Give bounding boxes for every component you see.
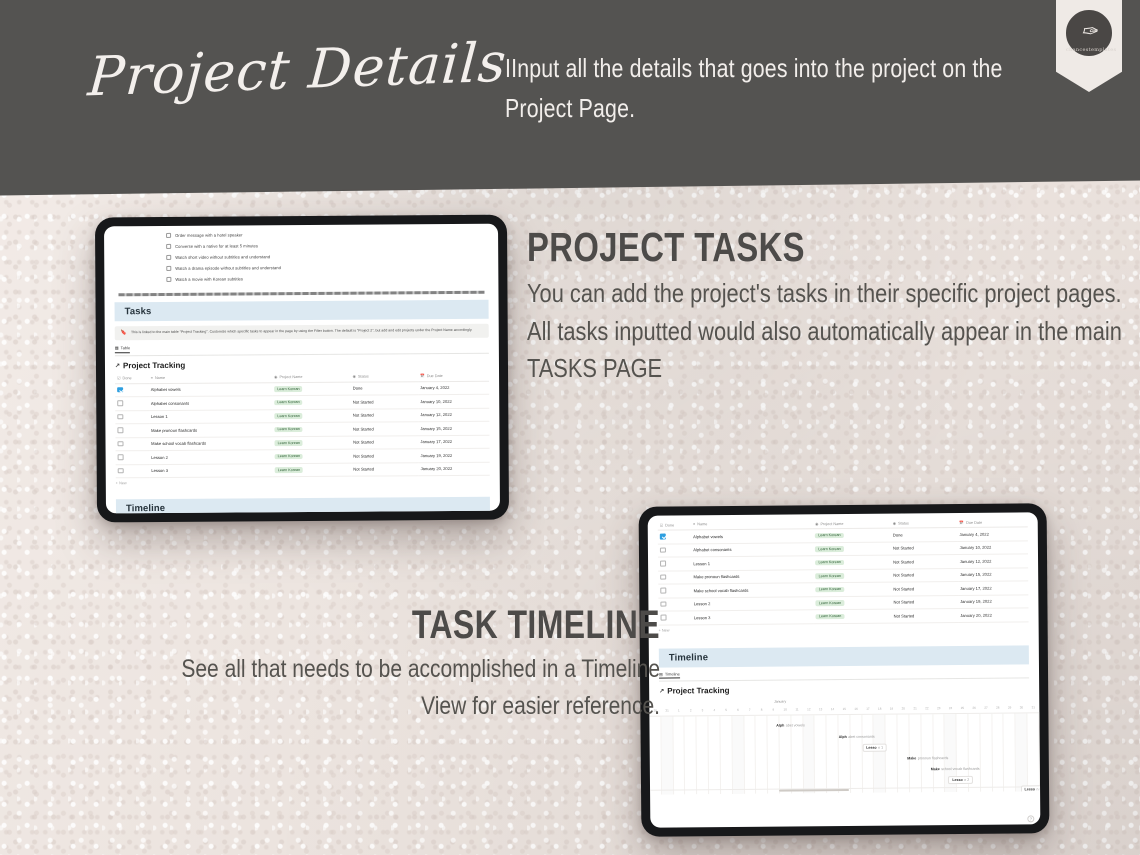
column-header-done[interactable]: ☑Done [658,519,691,530]
row-checkbox[interactable] [660,547,666,553]
cell-project: Learn Korean [813,528,891,542]
text-column-icon: ≡ [151,376,153,380]
copy-block-project-tasks: PROJECT TASKS You can add the project's … [527,226,1140,388]
timeline-task-bar-prefix: Make [931,767,940,771]
timeline-database-title: Project Tracking [667,686,729,696]
bookmark-icon: 🔖 [121,330,127,337]
timeline-column-band [1004,714,1016,792]
cell-project: Learn Korean [814,609,892,623]
column-header-status[interactable]: ◉Status [891,517,958,528]
table-row[interactable]: Lesson 3 Learn Korean Not Started Januar… [116,462,490,478]
timeline-day-tick: 4 [708,708,720,712]
project-pill[interactable]: Learn Korean [815,560,843,566]
tablet-device-left: Order message with a hotel speaker Conve… [95,215,509,523]
cell-status[interactable]: Not Started [351,462,418,476]
timeline-day-tick: 28 [992,706,1004,710]
row-checkbox[interactable] [660,601,666,607]
timeline-column-band [827,715,839,793]
cell-status[interactable]: Not Started [891,582,958,596]
cell-done[interactable] [658,597,691,611]
timeline-day-tick: 30 [1016,705,1028,709]
timeline-task-bar-label: abet consonants [848,735,874,739]
row-checkbox[interactable] [660,588,666,594]
row-checkbox[interactable] [661,615,667,621]
page-title: Project Details [86,31,509,109]
feather-icon: ✑ [1081,21,1098,41]
section-divider [118,291,484,296]
timeline-day-tick: 15 [838,707,850,711]
cell-status[interactable]: Not Started [351,422,418,436]
project-pill[interactable]: Learn Korean [274,400,302,406]
timeline-day-tick: 5 [720,708,732,712]
column-header-status[interactable]: ◉Status [351,371,418,382]
timeline-column-band [992,714,1004,792]
calendar-icon: 📅 [420,374,425,378]
row-checkbox[interactable] [118,441,124,447]
notion-timeline-page: ☑Done ≡Name ◉Project Name ◉Status 📅Due D… [648,516,1041,827]
column-header-project-name[interactable]: ◉Project Name [272,371,351,382]
tablet-screen-left: Order message with a hotel speaker Conve… [104,224,500,514]
timeline-day-tick: 23 [933,706,945,710]
timeline-column-band [673,716,685,794]
cell-done[interactable] [115,424,149,438]
timeline-column-band [815,715,827,793]
tasks-section-header: Tasks [115,299,489,321]
timeline-column-band [980,714,992,792]
timeline-day-ticks: 3031123456789101112131415161718192021222… [649,705,1039,712]
timeline-day-tick: 7 [744,708,756,712]
timeline-day-tick: 8 [756,708,768,712]
relation-column-icon: ◉ [815,522,818,526]
timeline-column-band [886,715,898,793]
checkbox-icon[interactable] [166,244,171,249]
help-icon[interactable]: ? [1027,815,1034,822]
timeline-column-band [874,715,886,793]
cell-due[interactable]: January 17, 2022 [418,435,489,449]
timeline-day-tick: 3 [697,708,709,712]
notion-project-page: Order message with a hotel speaker Conve… [104,224,500,514]
timeline-day-tick: 31 [661,708,673,712]
copy-heading-task-timeline: TASK TIMELINE [180,604,660,646]
cell-name[interactable]: Make school vocab flashcards [692,583,814,598]
cell-status[interactable]: Not Started [892,609,959,623]
cell-name[interactable]: Make school vocab flashcards [149,436,272,450]
cell-due[interactable]: January 15, 2022 [958,567,1028,581]
timeline-task-bar[interactable]: Alphabet consonants [837,733,875,741]
cell-done[interactable] [658,611,691,625]
project-tracking-table-right: ☑Done ≡Name ◉Project Name ◉Status 📅Due D… [658,516,1029,625]
row-checkbox[interactable] [117,387,123,393]
brand-logo-badge: ✑ chancestemplates [1064,8,1114,58]
cell-status[interactable]: Not Started [891,595,958,609]
select-column-icon: ◉ [353,375,356,379]
timeline-column-band [697,716,709,794]
timeline-task-bar[interactable]: Lesson 1 [862,744,887,752]
timeline-day-tick: 17 [862,707,874,711]
project-pill[interactable]: Learn Korean [816,573,844,579]
cell-project: Learn Korean [813,542,891,556]
tasks-callout: 🔖 This is linked to the main table "Proj… [115,323,489,340]
relation-column-icon: ◉ [274,375,277,379]
timeline-column-band [744,716,756,794]
list-item-label: Watch a drama episode without subtitles … [175,265,281,271]
timeline-task-bar-label: n 3 [1036,787,1040,791]
cell-project: Learn Korean [273,463,352,477]
cell-status[interactable]: Not Started [351,408,418,422]
list-item-label: Watch short video without subtitles and … [175,254,270,260]
cell-done[interactable] [115,397,149,411]
timeline-column-band [661,716,673,794]
list-item-label: Converse with a native for at least 5 mi… [175,243,258,249]
copy-body-task-timeline: See all that needs to be accomplished in… [156,651,660,725]
timeline-task-bar[interactable]: Make school vocab flashcards [929,765,980,773]
project-pill[interactable]: Learn Korean [275,454,303,460]
row-checkbox[interactable] [117,400,123,406]
cell-project: Learn Korean [273,436,352,450]
cell-due[interactable]: January 17, 2022 [958,581,1028,595]
column-header-done[interactable]: ☑Done [115,373,149,384]
cell-status[interactable]: Not Started [351,449,418,463]
tablet-device-right: ☑Done ≡Name ◉Project Name ◉Status 📅Due D… [639,503,1050,837]
timeline-task-bar-label: n 1 [878,746,883,750]
tab-table[interactable]: ▦ Table [115,345,130,353]
checkbox-column-icon: ☑ [660,523,663,527]
cell-due[interactable]: January 20, 2022 [419,462,490,476]
timeline-day-tick: 1 [673,708,685,712]
tab-timeline-label: Timeline [665,671,680,676]
timeline-column-band [803,715,815,793]
cell-done[interactable] [658,543,691,557]
timeline-day-tick: 24 [945,706,957,710]
cell-done[interactable] [116,464,150,478]
cell-name[interactable]: Alphabet vowels [149,382,272,396]
cell-due[interactable]: January 15, 2022 [418,421,489,435]
project-tracking-table: ☑Done ≡Name ◉Project Name ◉Status 📅Due D… [115,370,490,478]
timeline-column-band [685,716,697,794]
cell-name[interactable]: Make pronoun flashcards [149,423,272,437]
open-link-icon: ↗ [115,362,120,369]
cell-name[interactable]: Lesson 1 [691,556,813,571]
timeline-month-label: January [774,700,786,704]
project-pill[interactable]: Learn Korean [275,440,303,446]
copy-body-project-tasks: You can add the project's tasks in their… [527,275,1140,388]
copy-block-task-timeline: TASK TIMELINE See all that needs to be a… [60,604,660,725]
select-column-icon: ◉ [893,521,896,525]
cell-project: Learn Korean [273,449,352,463]
checkbox-icon[interactable] [166,277,171,282]
timeline-column-band [720,716,732,794]
cell-name[interactable]: Lesson 3 [149,463,272,477]
cell-done[interactable] [115,410,149,424]
cell-status[interactable]: Not Started [351,435,418,449]
cell-name[interactable]: Make pronoun flashcards [691,569,813,584]
cell-done[interactable] [658,570,691,584]
project-pill[interactable]: Learn Korean [816,614,844,620]
list-item-label: Watch a movie with Korean subtitles [175,276,243,281]
cell-status[interactable]: Not Started [891,541,958,555]
list-item-label: Order message with a hotel speaker [175,232,243,237]
cell-due[interactable]: January 20, 2022 [958,608,1028,622]
project-pill[interactable]: Learn Korean [816,600,844,606]
cell-project: Learn Korean [814,582,892,596]
timeline-day-tick: 21 [909,706,921,710]
database-view-tabs: ▦ Table [115,343,489,356]
timeline-column-band [862,715,874,793]
timeline-column-band [756,716,768,794]
calendar-icon: 📅 [959,520,964,524]
row-checkbox[interactable] [118,454,124,460]
timeline-day-tick: 16 [850,707,862,711]
project-pill[interactable]: Learn Korean [815,533,843,539]
timeline-section-header: Timeline [116,497,490,514]
table-icon: ▦ [115,345,119,350]
row-checkbox[interactable] [660,534,666,540]
timeline-day-tick: 29 [1004,706,1016,710]
timeline-task-bar-prefix: Lesso [952,778,962,782]
cell-due[interactable]: January 4, 2022 [418,381,489,395]
timeline-column-band [838,715,850,793]
row-checkbox[interactable] [117,414,123,420]
timeline-task-bar[interactable]: Lesson 2 [948,776,973,784]
cell-name[interactable]: Alphabet vowels [691,529,813,544]
timeline-task-bar[interactable]: Lesson 3 [1021,785,1041,793]
project-pill[interactable]: Learn Korean [275,467,303,473]
cell-due[interactable]: January 19, 2022 [418,448,489,462]
timeline-task-bar[interactable]: Make pronoun flashcards [905,754,948,762]
database-title: Project Tracking [123,360,185,369]
timeline-column-band [732,716,744,794]
timeline-task-bar[interactable]: Alphabet vowels [774,721,805,729]
timeline-day-tick: 14 [827,707,839,711]
cell-due[interactable]: January 12, 2022 [958,554,1028,568]
cell-done[interactable] [658,557,691,571]
timeline-day-tick: 11 [791,707,803,711]
timeline-day-tick: 12 [803,707,815,711]
timeline-day-tick: 13 [815,707,827,711]
row-checkbox[interactable] [118,468,124,474]
timeline-task-bar-prefix: Lesso [866,746,876,750]
timeline-task-bar-prefix: Lesso [1025,787,1035,791]
checkbox-icon[interactable] [166,233,171,238]
cell-name[interactable]: Lesson 2 [149,450,272,464]
cell-status[interactable]: Done [351,381,418,395]
timeline-column-band [708,716,720,794]
timeline-day-tick: 2 [685,708,697,712]
timeline-task-bar-label: pronoun flashcards [918,756,949,760]
tasks-callout-text: This is linked to the main table "Projec… [131,327,472,335]
column-header-due-date[interactable]: 📅Due Date [418,370,489,381]
column-header-due-date[interactable]: 📅Due Date [957,516,1027,527]
cell-due[interactable]: January 4, 2022 [957,527,1027,541]
timeline-column-band [649,717,661,795]
row-checkbox[interactable] [660,561,666,567]
cell-done[interactable] [116,451,150,465]
cell-project: Learn Korean [272,422,351,436]
timeline-task-bar-prefix: Alph [776,724,784,728]
row-checkbox[interactable] [660,574,666,580]
row-checkbox[interactable] [117,427,123,433]
tab-timeline[interactable]: ▤ Timeline [659,671,680,679]
cell-name[interactable]: Alphabet consonants [691,542,813,557]
timeline-day-tick: 22 [921,706,933,710]
timeline-day-tick: 18 [874,707,886,711]
brand-name: chancestemplates [1066,47,1112,53]
page-subtitle: IInput all the details that goes into th… [505,48,1030,129]
cell-done[interactable] [115,383,149,397]
cell-name[interactable]: Lesson 1 [149,409,272,423]
header-banner: Project Details IInput all the details t… [0,0,1140,196]
timeline-day-tick: 19 [886,707,898,711]
cell-name[interactable]: Lesson 2 [692,596,814,611]
cell-name[interactable]: Alphabet consonants [149,396,272,410]
table-body: Alphabet vowels Learn Korean Done Januar… [658,527,1029,625]
project-pill[interactable]: Learn Korean [274,386,302,392]
table-row[interactable]: Lesson 3 Learn Korean Not Started Januar… [658,608,1028,625]
cell-project: Learn Korean [813,555,891,569]
timeline-task-bar-label: n 2 [964,778,969,782]
timeline-day-tick: 26 [968,706,980,710]
tasks-heading: Tasks [125,303,479,316]
timeline-day-tick: 20 [897,706,909,710]
project-pill[interactable]: Learn Korean [816,587,844,593]
cell-due[interactable]: January 19, 2022 [958,594,1028,608]
table-body: Alphabet vowels Learn Korean Done Januar… [115,381,490,478]
timeline-task-bar-label: abet vowels [786,723,805,727]
timeline-task-bar-prefix: Make [907,756,916,760]
timeline-view-tabs: ▤ Timeline [659,668,1029,682]
timeline-day-tick: 6 [732,708,744,712]
timeline-column-band [850,715,862,793]
timeline-day-tick: 9 [767,708,779,712]
copy-heading-project-tasks: PROJECT TASKS [527,226,1039,269]
cell-due[interactable]: January 10, 2022 [418,394,489,408]
timeline-heading: Timeline [669,649,1019,663]
tablet-screen-right: ☑Done ≡Name ◉Project Name ◉Status 📅Due D… [648,512,1041,827]
database-title-row[interactable]: ↗ Project Tracking [115,358,489,370]
goal-checklist: Order message with a hotel speaker Conve… [104,224,498,286]
cell-done[interactable] [115,437,149,451]
cell-due[interactable]: January 10, 2022 [958,540,1028,554]
timeline-heading: Timeline [126,501,480,514]
timeline-day-tick: 10 [779,707,791,711]
cell-project: Learn Korean [272,395,351,409]
project-pill[interactable]: Learn Korean [815,546,843,552]
checkbox-icon[interactable] [166,266,171,271]
timeline-column-band [1027,713,1039,791]
cell-project: Learn Korean [814,596,892,610]
cell-project: Learn Korean [814,569,892,583]
project-pill[interactable]: Learn Korean [274,413,302,419]
cell-status[interactable]: Not Started [891,568,958,582]
timeline-day-tick: 25 [956,706,968,710]
cell-status[interactable]: Done [891,528,958,542]
cell-project: Learn Korean [272,409,351,423]
cell-done[interactable] [658,584,691,598]
checkbox-column-icon: ☑ [117,376,120,380]
checkbox-icon[interactable] [166,255,171,260]
cell-due[interactable]: January 12, 2022 [418,408,489,422]
cell-status[interactable]: Not Started [891,555,958,569]
timeline-task-bar-prefix: Alph [839,735,847,739]
timeline-column-band [1016,713,1028,791]
column-header-project-name[interactable]: ◉Project Name [813,518,891,529]
cell-name[interactable]: Lesson 3 [692,610,814,625]
timeline-section-header: Timeline [659,645,1029,667]
text-column-icon: ≡ [693,522,695,526]
timeline-day-tick: 31 [1027,705,1039,709]
cell-done[interactable] [658,530,691,544]
cell-status[interactable]: Not Started [351,395,418,409]
tab-table-label: Table [121,345,131,350]
cell-project: Learn Korean [272,382,351,396]
timeline-column-bands [649,713,1040,794]
timeline-gantt-grid[interactable]: Alphabet vowelsAlphabet consonantsLesson… [649,713,1040,794]
timeline-task-bar-label: school vocab flashcards [941,767,979,771]
list-item[interactable]: Watch a movie with Korean subtitles [166,272,480,285]
timeline-database-title-row[interactable]: ↗ Project Tracking [659,683,1029,695]
project-pill[interactable]: Learn Korean [274,427,302,433]
timeline-day-tick: 27 [980,706,992,710]
